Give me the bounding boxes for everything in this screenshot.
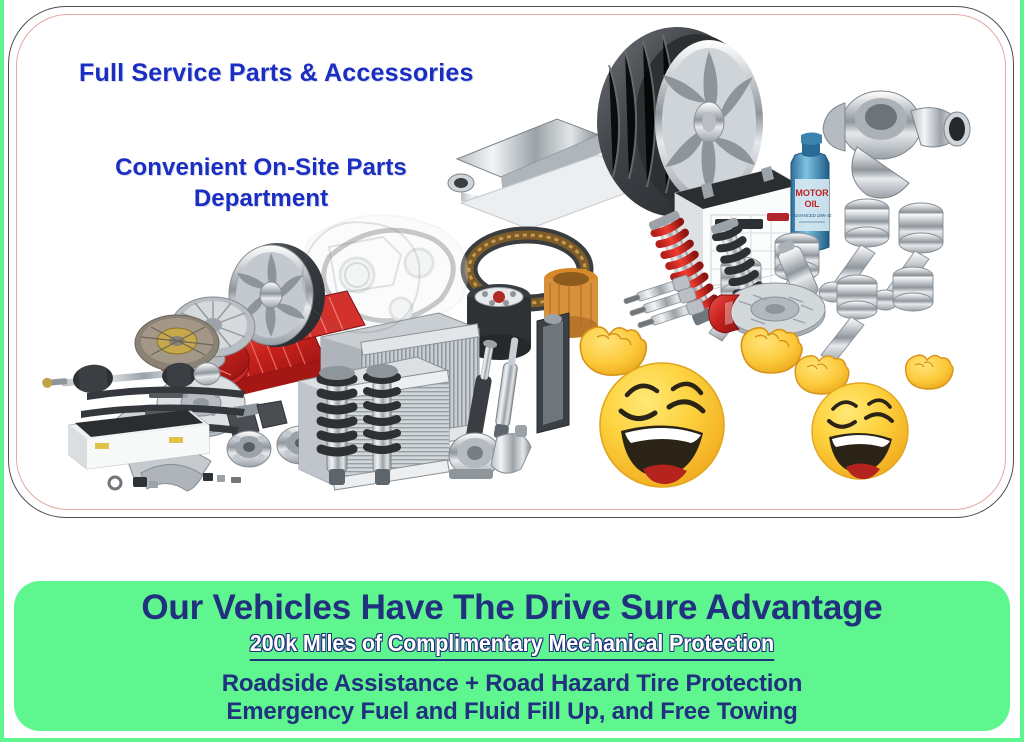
svg-text:MOTOR: MOTOR [795,188,829,198]
page-edge-accent-left [0,0,4,742]
smiley-right-fist-icon [741,328,802,373]
svg-text:ADVANCED 10W-40: ADVANCED 10W-40 [793,213,832,218]
promo-benefit-line-1: Roadside Assistance + Road Hazard Tire P… [14,670,1010,698]
radiator-side-tank-icon [537,313,569,433]
subtitle-line-1: Convenient On-Site Parts [71,153,451,184]
smiley-small-right-fist-icon [906,355,953,389]
subtitle-on-site-parts: Convenient On-Site Parts Department [71,153,451,214]
svg-text:OIL: OIL [805,199,821,209]
turbocharger-icon [823,91,970,198]
subtitle-line-2: Department [71,184,451,215]
laughing-smiley-large-icon [580,327,802,487]
promo-benefit-line-2: Emergency Fuel and Fluid Fill Up, and Fr… [14,698,1010,726]
promo-mechanical-protection-text: 200k Miles of Complimentary Mechanical P… [250,630,774,661]
promo-headline: Our Vehicles Have The Drive Sure Advanta… [14,589,1010,627]
advertisement-page: MOTOR OIL ADVANCED 10W-40 [0,0,1024,742]
page-edge-accent-right [1020,0,1024,742]
laughing-smiley-small-icon [795,355,953,479]
page-title-full-service: Full Service Parts & Accessories [79,59,474,88]
hero-card: MOTOR OIL ADVANCED 10W-40 [8,6,1014,518]
promo-highlight-row: 200k Miles of Complimentary Mechanical P… [14,630,1010,661]
page-edge-accent-bottom [0,738,1024,742]
drive-sure-promo-banner: Our Vehicles Have The Drive Sure Advanta… [14,581,1010,731]
